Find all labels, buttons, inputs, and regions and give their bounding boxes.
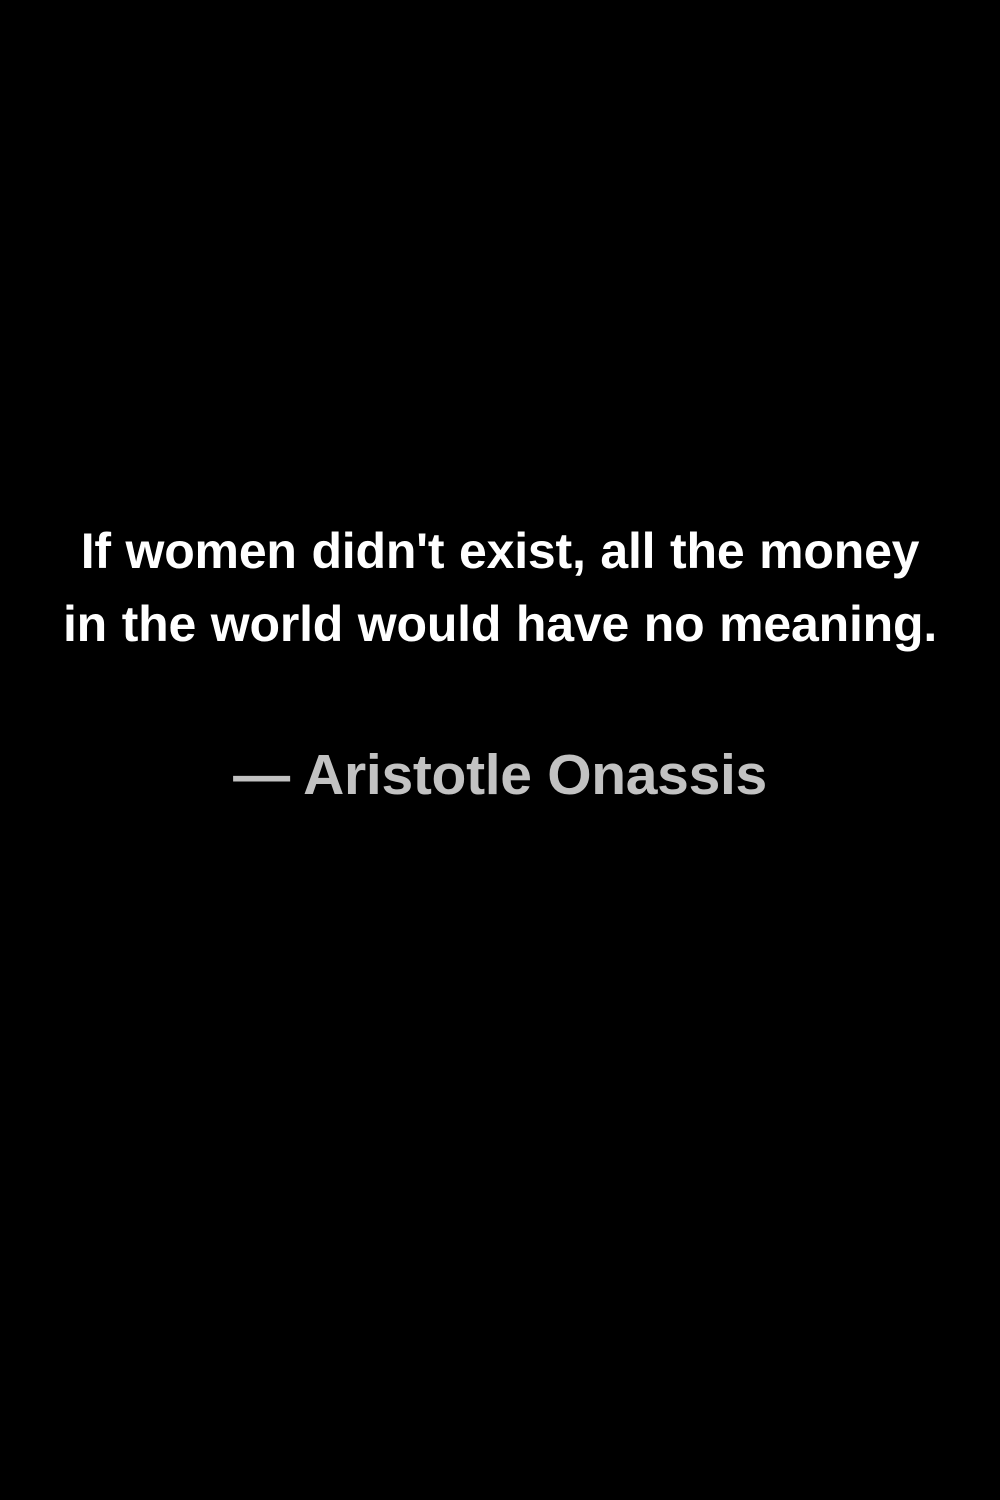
attribution-block: — Aristotle Onassis <box>0 740 1000 810</box>
quote-text: If women didn't exist, all the money in … <box>60 515 940 661</box>
quote-attribution: — Aristotle Onassis <box>60 740 940 810</box>
quote-card: If women didn't exist, all the money in … <box>0 0 1000 1500</box>
quote-block: If women didn't exist, all the money in … <box>0 515 1000 661</box>
